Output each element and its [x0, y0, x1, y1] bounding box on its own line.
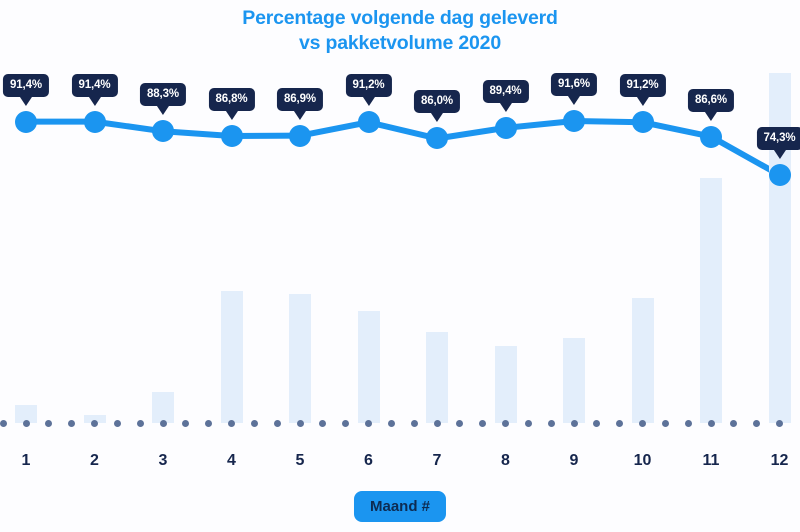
baseline-dot: [68, 420, 75, 427]
bar-month-11: [700, 178, 722, 423]
baseline-dot: [319, 420, 326, 427]
baseline-dot: [274, 420, 281, 427]
x-tick-7: 7: [417, 452, 457, 470]
line-point-month-10[interactable]: [632, 111, 654, 133]
x-tick-11: 11: [691, 452, 731, 470]
baseline-dot: [548, 420, 555, 427]
data-label-month-11: 86,6%: [688, 89, 734, 112]
plot-area: 91,4%91,4%88,3%86,8%86,9%91,2%86,0%89,4%…: [0, 0, 800, 440]
baseline-dot: [411, 420, 418, 427]
data-label-month-3: 88,3%: [140, 83, 186, 106]
x-tick-1: 1: [6, 452, 46, 470]
baseline-dot: [365, 420, 372, 427]
line-point-month-3[interactable]: [152, 120, 174, 142]
x-tick-3: 3: [143, 452, 183, 470]
baseline-dot: [753, 420, 760, 427]
baseline-dot: [205, 420, 212, 427]
data-label-month-4: 86,8%: [208, 88, 254, 111]
baseline-dot: [45, 420, 52, 427]
chart-canvas: Percentage volgende dag geleverd vs pakk…: [0, 0, 800, 532]
baseline-dot: [479, 420, 486, 427]
bar-month-7: [426, 332, 448, 423]
bar-month-5: [289, 294, 311, 423]
data-label-month-8: 89,4%: [482, 80, 528, 103]
data-label-month-12: 74,3%: [756, 127, 800, 150]
data-label-month-10: 91,2%: [619, 74, 665, 97]
baseline-dot: [662, 420, 669, 427]
data-label-month-1: 91,4%: [3, 74, 49, 97]
baseline-dot: [776, 420, 783, 427]
bar-month-12: [769, 73, 791, 423]
baseline-dot: [23, 420, 30, 427]
bar-month-8: [495, 346, 517, 423]
x-tick-5: 5: [280, 452, 320, 470]
baseline-dot: [251, 420, 258, 427]
baseline-dot: [502, 420, 509, 427]
baseline-dot: [160, 420, 167, 427]
baseline-dot: [571, 420, 578, 427]
x-tick-10: 10: [623, 452, 663, 470]
baseline-dot: [685, 420, 692, 427]
x-tick-4: 4: [212, 452, 252, 470]
line-point-month-6[interactable]: [358, 111, 380, 133]
bar-month-10: [632, 298, 654, 423]
line-point-month-7[interactable]: [426, 127, 448, 149]
line-point-month-12[interactable]: [769, 164, 791, 186]
baseline-dot: [730, 420, 737, 427]
baseline-dot: [0, 420, 7, 427]
baseline-dot: [616, 420, 623, 427]
x-tick-12: 12: [760, 452, 800, 470]
x-axis-tick-labels: 123456789101112: [0, 452, 800, 482]
baseline-dot: [137, 420, 144, 427]
bar-month-4: [221, 291, 243, 423]
baseline-dot: [388, 420, 395, 427]
line-point-month-9[interactable]: [563, 110, 585, 132]
baseline-dot: [114, 420, 121, 427]
data-label-month-6: 91,2%: [345, 74, 391, 97]
x-axis-title-badge: Maand #: [354, 491, 446, 522]
baseline-dot: [456, 420, 463, 427]
baseline-dot: [639, 420, 646, 427]
line-series-path: [0, 0, 800, 440]
data-label-month-2: 91,4%: [71, 74, 117, 97]
bar-month-9: [563, 338, 585, 423]
line-point-month-11[interactable]: [700, 126, 722, 148]
x-tick-8: 8: [486, 452, 526, 470]
baseline-dot: [708, 420, 715, 427]
data-label-month-9: 91,6%: [551, 73, 597, 96]
x-tick-6: 6: [349, 452, 389, 470]
data-label-month-7: 86,0%: [414, 90, 460, 113]
baseline-dot: [525, 420, 532, 427]
baseline-dot: [182, 420, 189, 427]
line-point-month-5[interactable]: [289, 125, 311, 147]
data-label-month-5: 86,9%: [277, 88, 323, 111]
baseline-dot: [434, 420, 441, 427]
baseline-dot: [228, 420, 235, 427]
line-point-month-2[interactable]: [84, 111, 106, 133]
baseline-dot: [342, 420, 349, 427]
baseline-dot: [593, 420, 600, 427]
baseline-dot: [297, 420, 304, 427]
line-point-month-8[interactable]: [495, 117, 517, 139]
x-tick-2: 2: [75, 452, 115, 470]
bar-month-6: [358, 311, 380, 423]
line-point-month-4[interactable]: [221, 125, 243, 147]
baseline-dot: [91, 420, 98, 427]
x-tick-9: 9: [554, 452, 594, 470]
line-point-month-1[interactable]: [15, 111, 37, 133]
bar-month-3: [152, 392, 174, 423]
